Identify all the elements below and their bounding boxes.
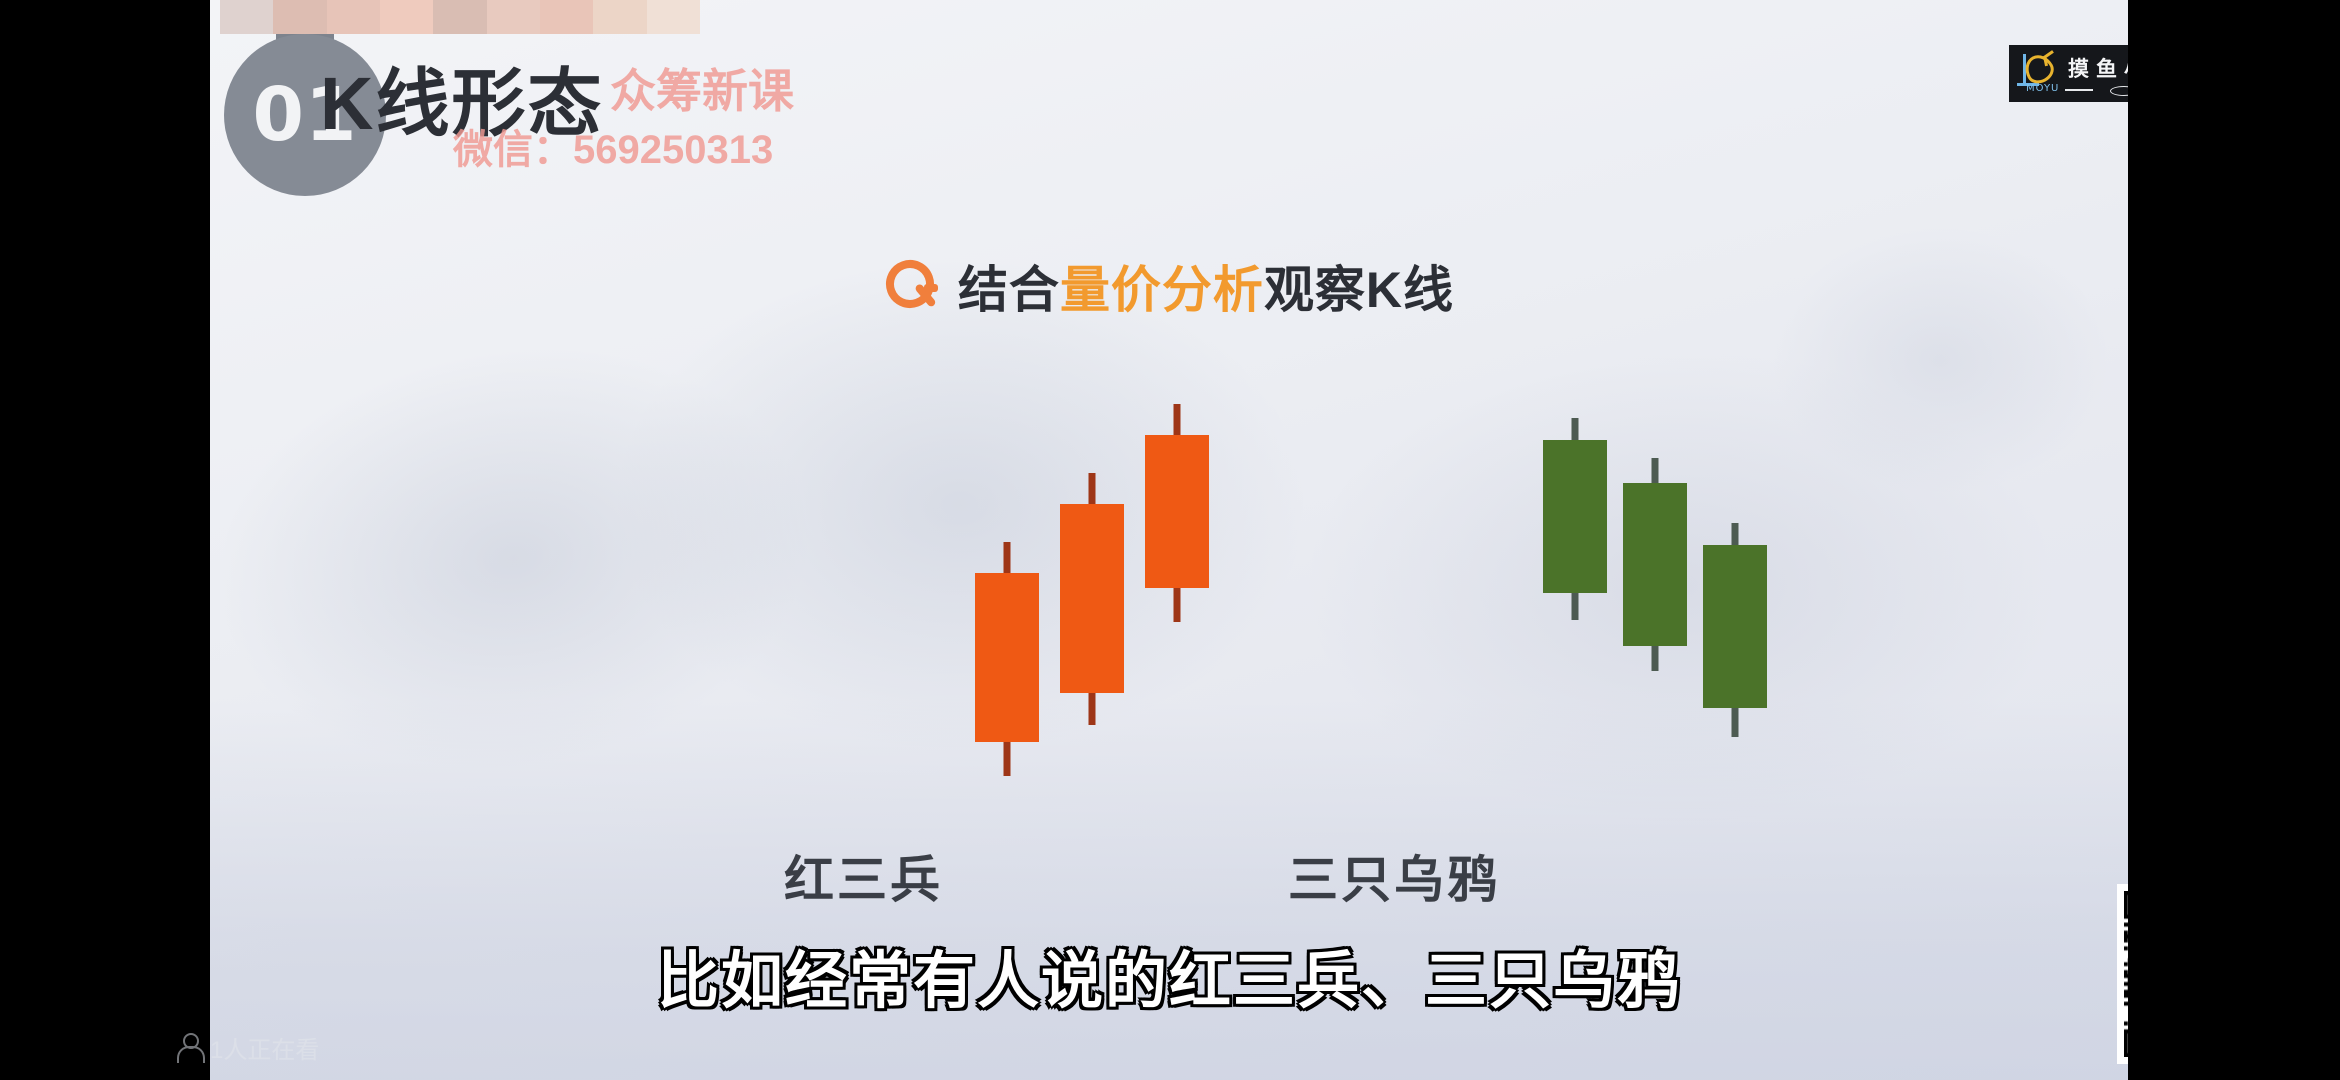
video-caption: 比如经常有人说的红三兵、三只乌鸦	[210, 930, 2128, 1020]
person-icon	[176, 1033, 202, 1063]
candle-body	[1703, 545, 1767, 708]
mosaic-cell	[593, 0, 646, 34]
pattern-label-right: 三只乌鸦	[1288, 840, 1500, 912]
subtitle-prefix: 结合	[958, 262, 1060, 318]
subtitle-highlight: 量价分析	[1060, 262, 1264, 318]
mosaic-cell	[273, 0, 326, 34]
qr-code[interactable]	[2117, 884, 2128, 1064]
watermark-line-1: 众筹新课	[610, 55, 794, 121]
candlestick-three-white-soldiers-2	[1060, 473, 1124, 725]
subtitle-row: 结合量价分析观察K线	[210, 250, 2128, 322]
logo-mark-text: MOYU	[2026, 83, 2059, 94]
candle-body	[1623, 483, 1687, 646]
video-frame: 01 K线形态 众筹新课 微信：569250313 结合量价分析观察K线 红三兵…	[210, 0, 2128, 1080]
mosaic-cell	[647, 0, 700, 34]
background-mountain-4	[1710, 150, 2128, 570]
watermark-line-2: 微信：569250313	[453, 117, 773, 175]
background-haze	[210, 700, 2128, 1080]
candlestick-three-black-crows-2	[1623, 458, 1687, 671]
candle-body	[1145, 435, 1209, 588]
logo-name: 摸鱼小组	[2068, 53, 2128, 83]
candlestick-three-black-crows-1	[1543, 418, 1607, 620]
video-player-screen: 01 K线形态 众筹新课 微信：569250313 结合量价分析观察K线 红三兵…	[0, 0, 2340, 1080]
candle-body	[1543, 440, 1607, 593]
mosaic-cell	[433, 0, 486, 34]
candle-body	[1060, 504, 1124, 693]
subtitle-text: 结合量价分析观察K线	[958, 250, 1454, 322]
viewer-count-label: 1人正在看	[210, 1030, 319, 1065]
mosaic-cell	[380, 0, 433, 34]
candlestick-three-white-soldiers-1	[975, 542, 1039, 776]
logo-divider	[2065, 86, 2128, 94]
candlestick-three-black-crows-3	[1703, 523, 1767, 737]
channel-logo: MOYU 摸鱼小组	[2009, 45, 2128, 102]
candle-body	[975, 573, 1039, 742]
subtitle-suffix: 观察K线	[1264, 262, 1454, 318]
mosaic-cell	[220, 0, 273, 34]
magnifier-icon	[884, 258, 940, 314]
pattern-label-left: 红三兵	[784, 840, 943, 912]
mosaic-cell	[487, 0, 540, 34]
mosaic-cell	[327, 0, 380, 34]
candlestick-three-white-soldiers-3	[1145, 404, 1209, 622]
pixelated-redaction-bar	[220, 0, 700, 34]
moyu-fish-icon: MOYU	[2017, 52, 2057, 96]
qr-code-image	[2124, 891, 2128, 1057]
mosaic-cell	[540, 0, 593, 34]
viewer-count: 1人正在看	[176, 1030, 319, 1065]
